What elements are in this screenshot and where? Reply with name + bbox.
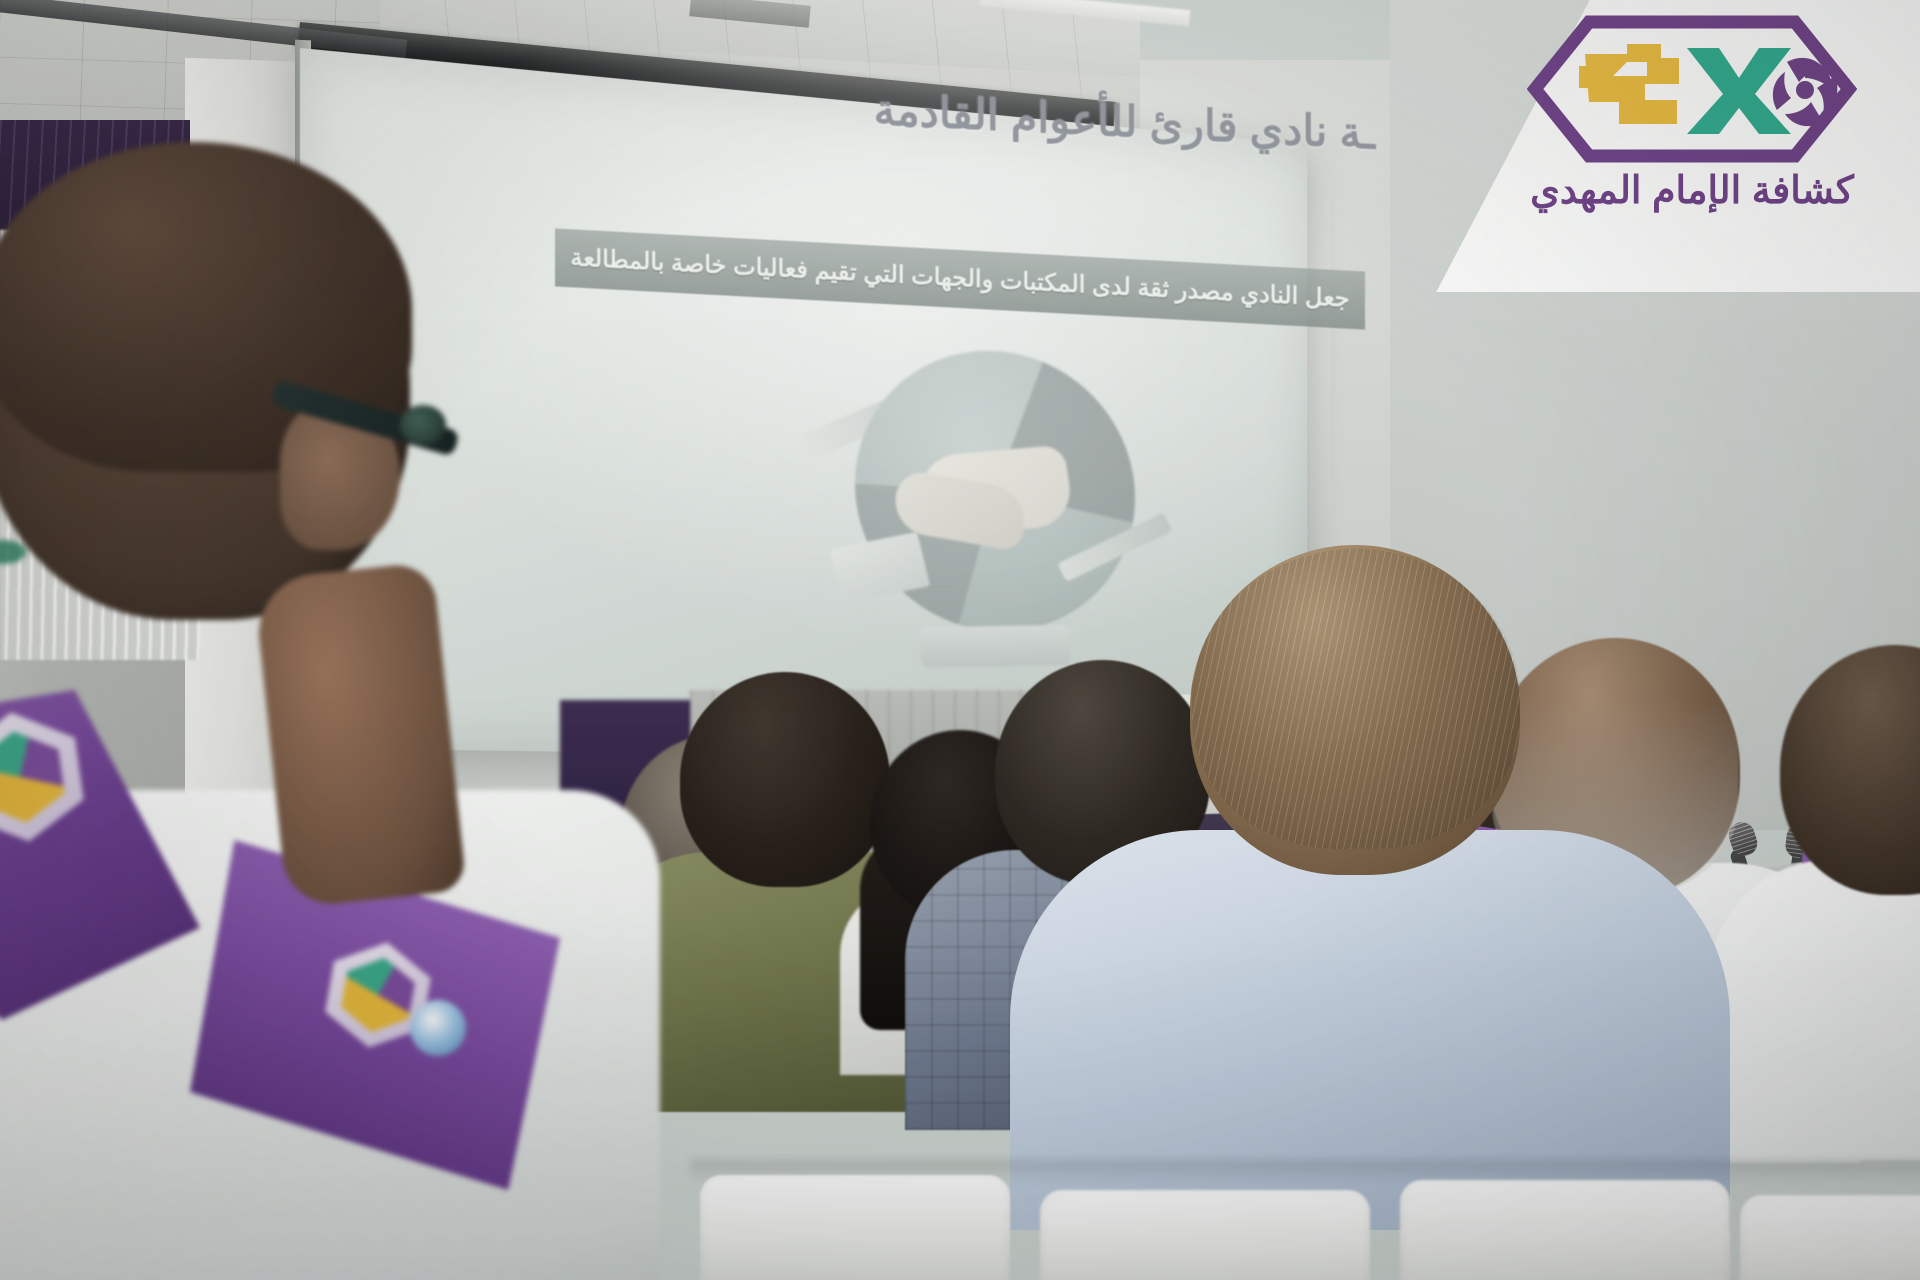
scout-badge-primary-emblem xyxy=(0,726,68,829)
organization-name: كشافة الإمام المهدي xyxy=(1530,168,1854,213)
audience-member-8-head xyxy=(1780,645,1920,895)
audience-member-5 xyxy=(1150,545,1570,1105)
audience-member-8 xyxy=(1770,645,1920,1065)
scout-hexagon-logo-icon xyxy=(1527,14,1857,164)
audience-member-5-hair xyxy=(1192,549,1520,849)
scout-badge-round xyxy=(410,1000,466,1056)
chair-2 xyxy=(1040,1190,1370,1280)
scout-badge-secondary-emblem xyxy=(338,952,419,1038)
slide-graphic-handshake xyxy=(800,321,1150,689)
foreground-hand xyxy=(253,561,467,908)
organization-logo: كشافة الإمام المهدي xyxy=(1492,14,1892,264)
photo-scene: ـة نادي قارئ للأعوام القادمة جعل النادي … xyxy=(0,0,1920,1280)
audience-member-2-head xyxy=(680,672,890,887)
eyeglasses-lens-edge xyxy=(0,540,26,564)
chair-3 xyxy=(1400,1180,1730,1280)
eyeglasses-hinge xyxy=(400,405,446,445)
chair-1 xyxy=(700,1175,1010,1280)
audience-member-8-torso xyxy=(1710,860,1920,1160)
foreground-scout-leader xyxy=(0,150,680,1280)
chair-4 xyxy=(1740,1195,1920,1280)
